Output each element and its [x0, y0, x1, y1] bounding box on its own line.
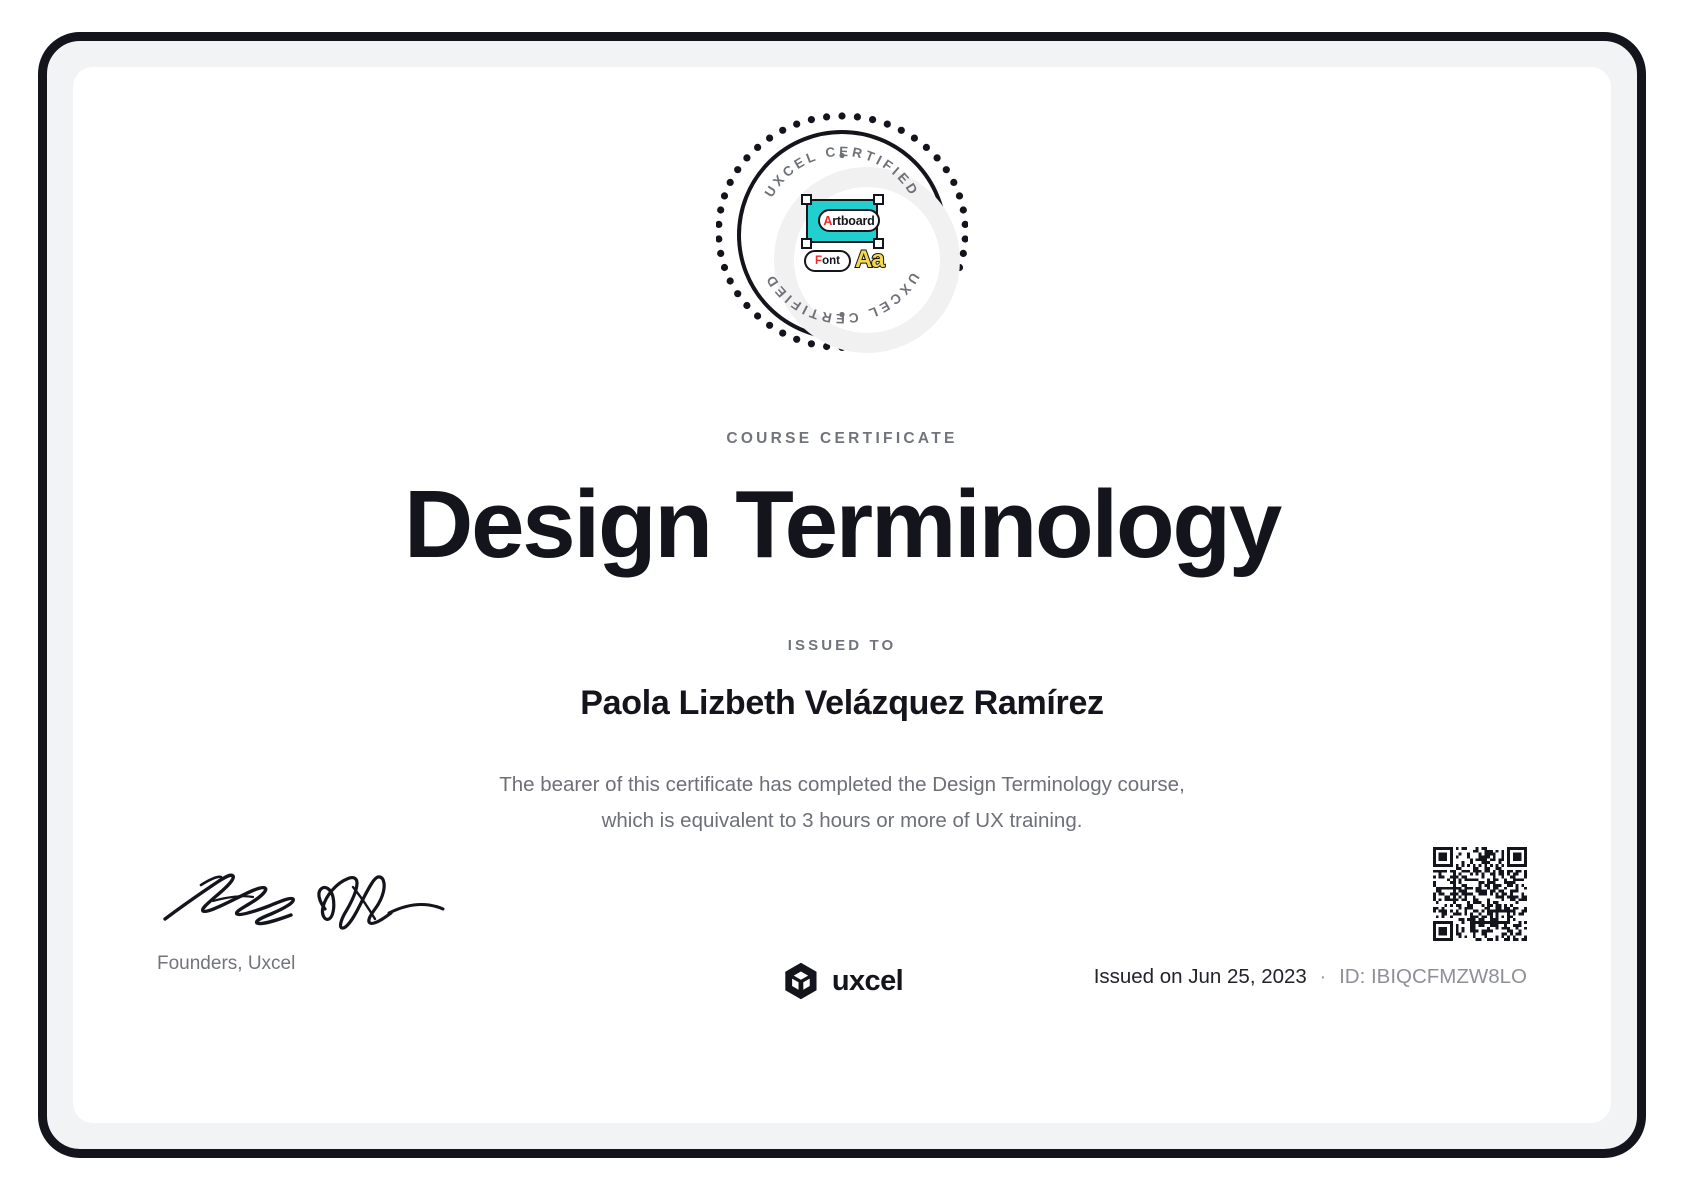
badge-dot-separator-bottom: [839, 312, 844, 317]
badge-text-top: UXCEL CERTIFIED: [762, 144, 923, 200]
uxcel-logo-icon: [781, 961, 821, 1001]
description-line-1: The bearer of this certificate has compl…: [392, 767, 1292, 803]
artboard-handle-bottom-left: [801, 238, 812, 249]
certificate-id: ID: IBIQCFMZW8LO: [1339, 965, 1527, 988]
font-label-rest: ont: [822, 255, 840, 267]
uxcel-brand: uxcel: [781, 961, 903, 1001]
badge-dot-separator-top: [839, 153, 844, 158]
verification-qr-code[interactable]: [1433, 847, 1527, 941]
artboard-label-pill: Artboard: [818, 209, 880, 232]
uxcel-wordmark: uxcel: [832, 965, 903, 998]
font-label-initial: F: [815, 255, 822, 267]
certificate-kind-label: COURSE CERTIFICATE: [73, 430, 1611, 448]
typeface-sample: Aa: [855, 248, 884, 272]
design-emblem-icon: Artboard Font Aa: [794, 193, 890, 283]
description-line-2: which is equivalent to 3 hours or more o…: [392, 803, 1292, 839]
issue-date: Issued on Jun 25, 2023: [1094, 965, 1307, 988]
qr-code-matrix: [1433, 847, 1527, 941]
course-title: Design Terminology: [73, 472, 1611, 578]
certificate-frame: UXCEL CERTIFIED UXCEL CERTIFIED Artboard: [38, 32, 1646, 1158]
founders-signature-icon: [157, 857, 449, 939]
font-label-pill: Font: [804, 250, 851, 272]
artboard-handle-top-right: [873, 194, 884, 205]
artboard-label-rest: rtboard: [832, 214, 874, 228]
certificate-description: The bearer of this certificate has compl…: [392, 767, 1292, 840]
signature-block: Founders, Uxcel: [157, 857, 457, 975]
signature-caption: Founders, Uxcel: [157, 953, 457, 975]
certification-badge: UXCEL CERTIFIED UXCEL CERTIFIED Artboard: [716, 109, 968, 361]
issue-metadata: Issued on Jun 25, 2023 · ID: IBIQCFMZW8L…: [1094, 965, 1527, 989]
certificate-card: UXCEL CERTIFIED UXCEL CERTIFIED Artboard: [73, 67, 1611, 1123]
issued-to-label: ISSUED TO: [73, 637, 1611, 654]
recipient-name: Paola Lizbeth Velázquez Ramírez: [73, 684, 1611, 723]
metadata-separator: ·: [1320, 965, 1327, 988]
artboard-handle-top-left: [801, 194, 812, 205]
artboard-label-initial: A: [823, 214, 832, 228]
